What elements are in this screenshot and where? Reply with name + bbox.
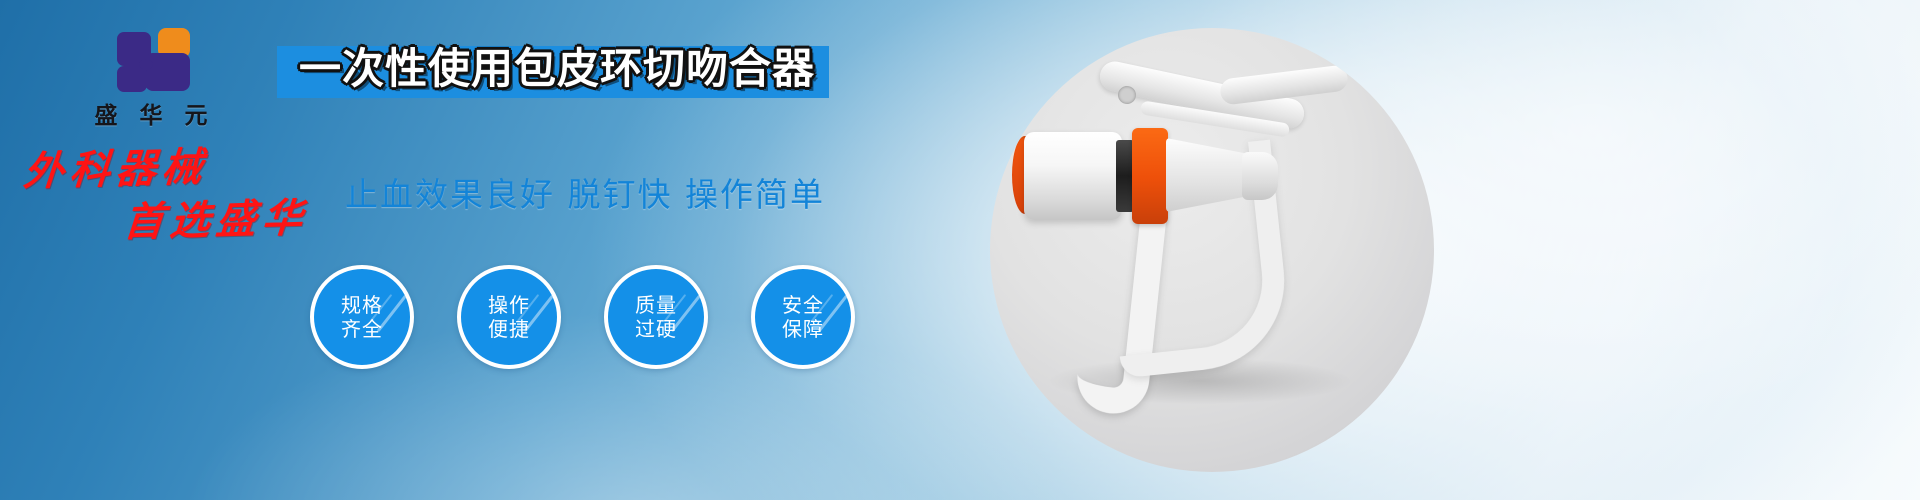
feature-badge-quality[interactable]: 质量 过硬 (604, 265, 708, 369)
feature-label-line2: 齐全 (341, 317, 383, 341)
title-banner: 一次性使用包皮环切吻合器 (277, 46, 829, 98)
feature-badge-safety[interactable]: 安全 保障 (751, 265, 855, 369)
logo-connector (139, 60, 153, 69)
slogan-line-1: 外科器械 (22, 144, 350, 192)
stapler-tip (1242, 152, 1278, 200)
feature-label-line1: 质量 (635, 293, 677, 317)
subtitle-text: 止血效果良好 脱钉快 操作简单 (345, 168, 825, 216)
slogan-line-2: 首选盛华 (122, 197, 350, 243)
feature-label-line1: 规格 (341, 293, 383, 317)
feature-label-line1: 操作 (488, 293, 530, 317)
logo-mark-icon (117, 26, 193, 92)
brand-name-text: 盛 华 元 (62, 96, 247, 130)
feature-badge-specifications[interactable]: 规格 齐全 (310, 265, 414, 369)
stapler-cylinder-body (1024, 132, 1122, 220)
product-photo-circle (990, 28, 1434, 472)
promotional-banner: 盛 华 元 外科器械 首选盛华 一次性使用包皮环切吻合器 止血效果良好 脱钉快 … (0, 0, 1920, 500)
logo-square-bottom-left (117, 66, 147, 92)
feature-label-line1: 安全 (782, 293, 824, 317)
stapler-orange-mid-band (1132, 128, 1168, 224)
logo-square-bottom-right (145, 53, 190, 91)
feature-label-line2: 便捷 (488, 317, 530, 341)
feature-label-line2: 过硬 (635, 317, 677, 341)
brand-logo[interactable]: 盛 华 元 (62, 26, 247, 126)
product-image (990, 28, 1434, 472)
feature-badge-list: 规格 齐全 操作 便捷 质量 过硬 安全 保障 (310, 265, 855, 369)
feature-badge-operation[interactable]: 操作 便捷 (457, 265, 561, 369)
feature-label-line2: 保障 (782, 317, 824, 341)
page-title: 一次性使用包皮环切吻合器 (299, 48, 815, 90)
calligraphy-slogan: 外科器械 首选盛华 (18, 148, 348, 258)
